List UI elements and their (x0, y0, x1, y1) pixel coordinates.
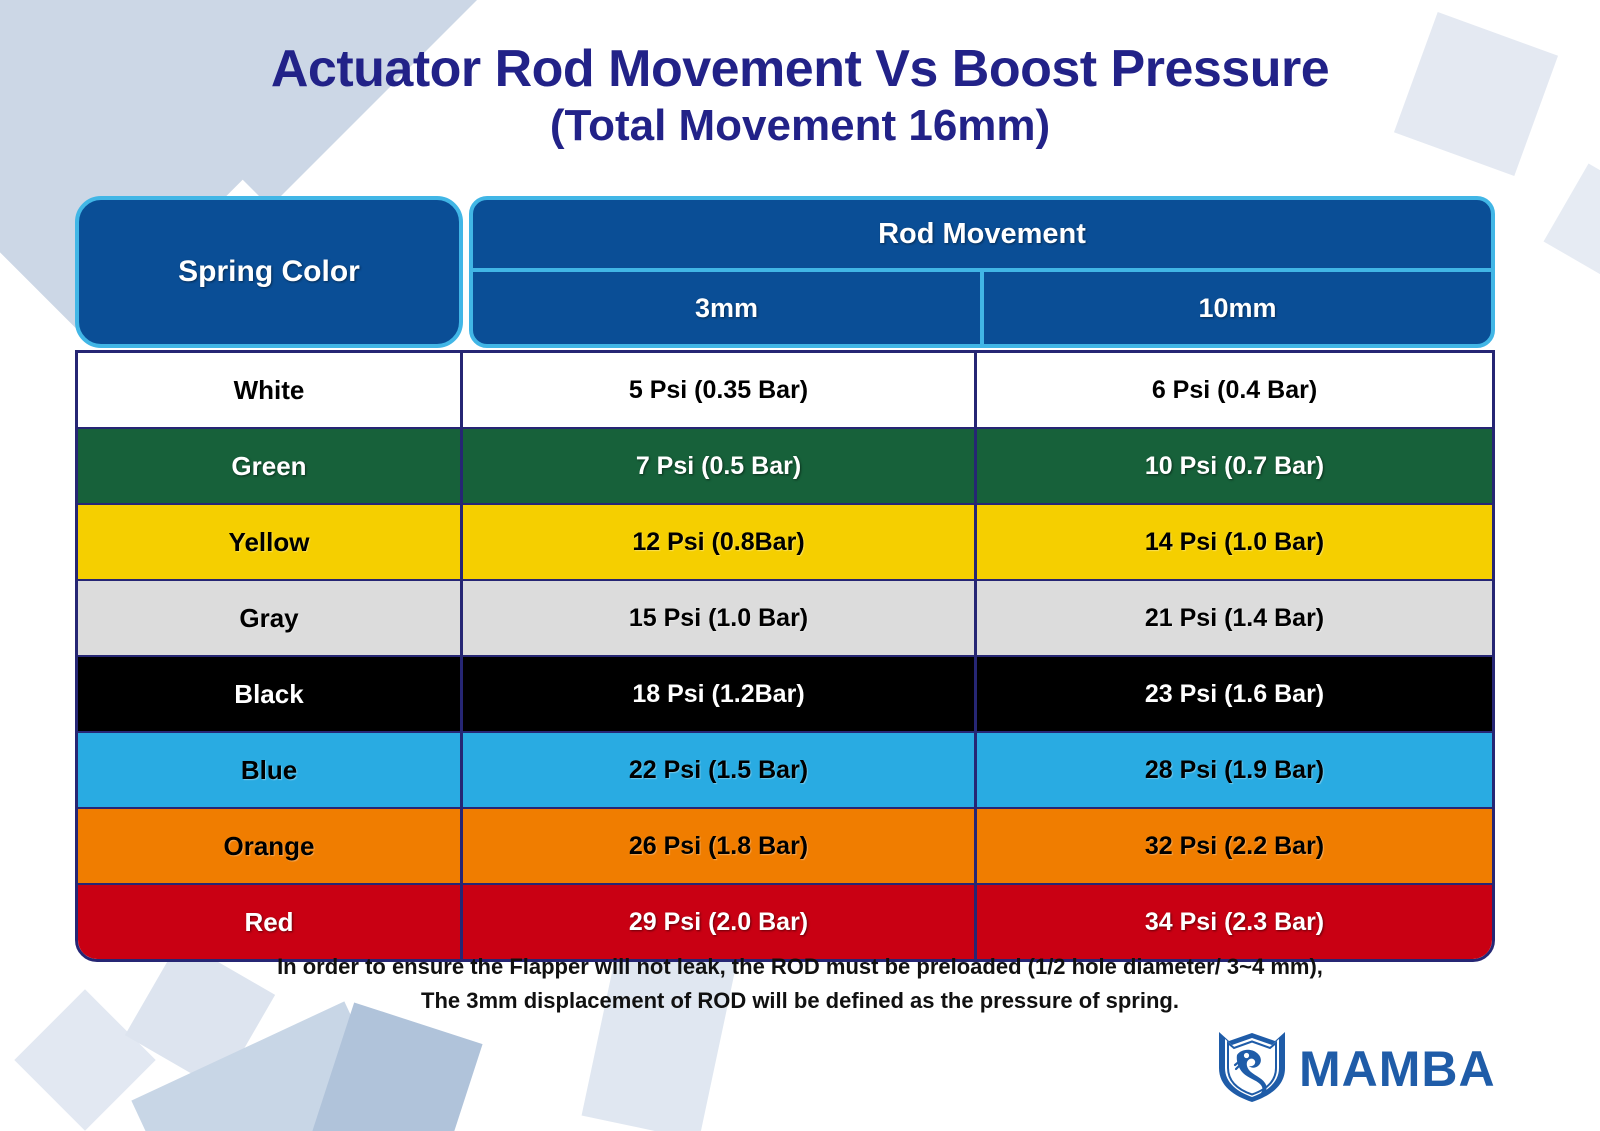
table-row: Gray15 Psi (1.0 Bar)21 Psi (1.4 Bar) (78, 579, 1492, 655)
table-row: Yellow12 Psi (0.8Bar)14 Psi (1.0 Bar) (78, 503, 1492, 579)
cell-spring-color: Red (78, 885, 460, 959)
cell-pressure-3mm: 12 Psi (0.8Bar) (460, 505, 974, 579)
cell-spring-color: Black (78, 657, 460, 731)
header-spring-color: Spring Color (75, 196, 463, 348)
decorative-square-bottom-overlap (312, 1002, 482, 1131)
cell-pressure-10mm: 6 Psi (0.4 Bar) (974, 353, 1492, 427)
cell-pressure-10mm: 21 Psi (1.4 Bar) (974, 581, 1492, 655)
table-row: Black18 Psi (1.2Bar)23 Psi (1.6 Bar) (78, 655, 1492, 731)
title-sub-line: (Total Movement 16mm) (0, 103, 1600, 149)
footer-notes: In order to ensure the Flapper will not … (0, 950, 1600, 1018)
cell-spring-color: White (78, 353, 460, 427)
cell-pressure-3mm: 26 Psi (1.8 Bar) (460, 809, 974, 883)
pressure-table: Spring Color Rod Movement 3mm 10mm White… (75, 196, 1495, 962)
cell-pressure-3mm: 29 Psi (2.0 Bar) (460, 885, 974, 959)
shield-snake-icon (1215, 1028, 1289, 1109)
cell-pressure-10mm: 34 Psi (2.3 Bar) (974, 885, 1492, 959)
cell-spring-color: Green (78, 429, 460, 503)
cell-pressure-3mm: 18 Psi (1.2Bar) (460, 657, 974, 731)
table-row: Blue22 Psi (1.5 Bar)28 Psi (1.9 Bar) (78, 731, 1492, 807)
cell-spring-color: Blue (78, 733, 460, 807)
table-row: Red29 Psi (2.0 Bar)34 Psi (2.3 Bar) (78, 883, 1492, 959)
cell-spring-color: Gray (78, 581, 460, 655)
table-header: Spring Color Rod Movement 3mm 10mm (75, 196, 1495, 348)
cell-pressure-10mm: 10 Psi (0.7 Bar) (974, 429, 1492, 503)
cell-pressure-10mm: 14 Psi (1.0 Bar) (974, 505, 1492, 579)
header-col-3mm: 3mm (473, 272, 980, 344)
decorative-square-right (1544, 164, 1600, 287)
table-row: Orange26 Psi (1.8 Bar)32 Psi (2.2 Bar) (78, 807, 1492, 883)
page-title: Actuator Rod Movement Vs Boost Pressure … (0, 0, 1600, 149)
footer-line-1: In order to ensure the Flapper will not … (0, 950, 1600, 984)
header-rod-movement: Rod Movement (473, 200, 1491, 268)
cell-pressure-10mm: 23 Psi (1.6 Bar) (974, 657, 1492, 731)
cell-spring-color: Yellow (78, 505, 460, 579)
cell-pressure-3mm: 7 Psi (0.5 Bar) (460, 429, 974, 503)
table-row: Green7 Psi (0.5 Bar)10 Psi (0.7 Bar) (78, 427, 1492, 503)
cell-pressure-3mm: 15 Psi (1.0 Bar) (460, 581, 974, 655)
title-main-line: Actuator Rod Movement Vs Boost Pressure (0, 42, 1600, 97)
footer-line-2: The 3mm displacement of ROD will be defi… (0, 984, 1600, 1018)
cell-spring-color: Orange (78, 809, 460, 883)
header-rod-movement-group: Rod Movement 3mm 10mm (469, 196, 1495, 348)
header-subcolumns: 3mm 10mm (473, 268, 1491, 344)
decorative-square-bottom-large (131, 1001, 443, 1131)
cell-pressure-3mm: 22 Psi (1.5 Bar) (460, 733, 974, 807)
table-row: White5 Psi (0.35 Bar)6 Psi (0.4 Bar) (78, 353, 1492, 427)
cell-pressure-10mm: 28 Psi (1.9 Bar) (974, 733, 1492, 807)
table-body: White5 Psi (0.35 Bar)6 Psi (0.4 Bar)Gree… (75, 350, 1495, 962)
header-col-10mm: 10mm (980, 272, 1491, 344)
cell-pressure-3mm: 5 Psi (0.35 Bar) (460, 353, 974, 427)
brand-name: MAMBA (1299, 1040, 1496, 1098)
cell-pressure-10mm: 32 Psi (2.2 Bar) (974, 809, 1492, 883)
brand-logo: MAMBA (1215, 1028, 1496, 1109)
